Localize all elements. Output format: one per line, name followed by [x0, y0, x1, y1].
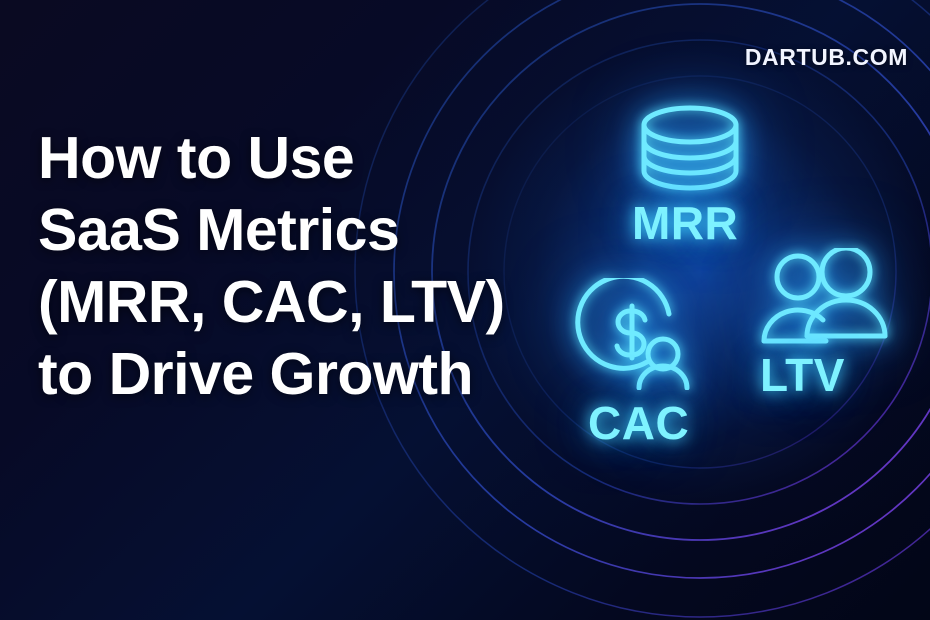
- metric-label-ltv: LTV: [760, 348, 845, 402]
- title-line-1: How to Use: [38, 122, 508, 194]
- dollar-circle-person-icon: [575, 278, 703, 390]
- title-line-4: to Drive Growth: [38, 338, 508, 410]
- metric-label-cac: CAC: [588, 396, 689, 450]
- banner-canvas: DARTUB.COM How to Use SaaS Metrics (MRR,…: [0, 0, 930, 620]
- two-people-icon: [758, 248, 888, 348]
- title-line-2: SaaS Metrics: [38, 194, 508, 266]
- title-line-3: (MRR, CAC, LTV): [38, 266, 508, 338]
- metric-label-mrr: MRR: [632, 196, 738, 250]
- page-title: How to Use SaaS Metrics (MRR, CAC, LTV) …: [38, 122, 508, 410]
- watermark-site-name: DARTUB.COM: [745, 44, 908, 71]
- database-stack-icon: [630, 100, 750, 196]
